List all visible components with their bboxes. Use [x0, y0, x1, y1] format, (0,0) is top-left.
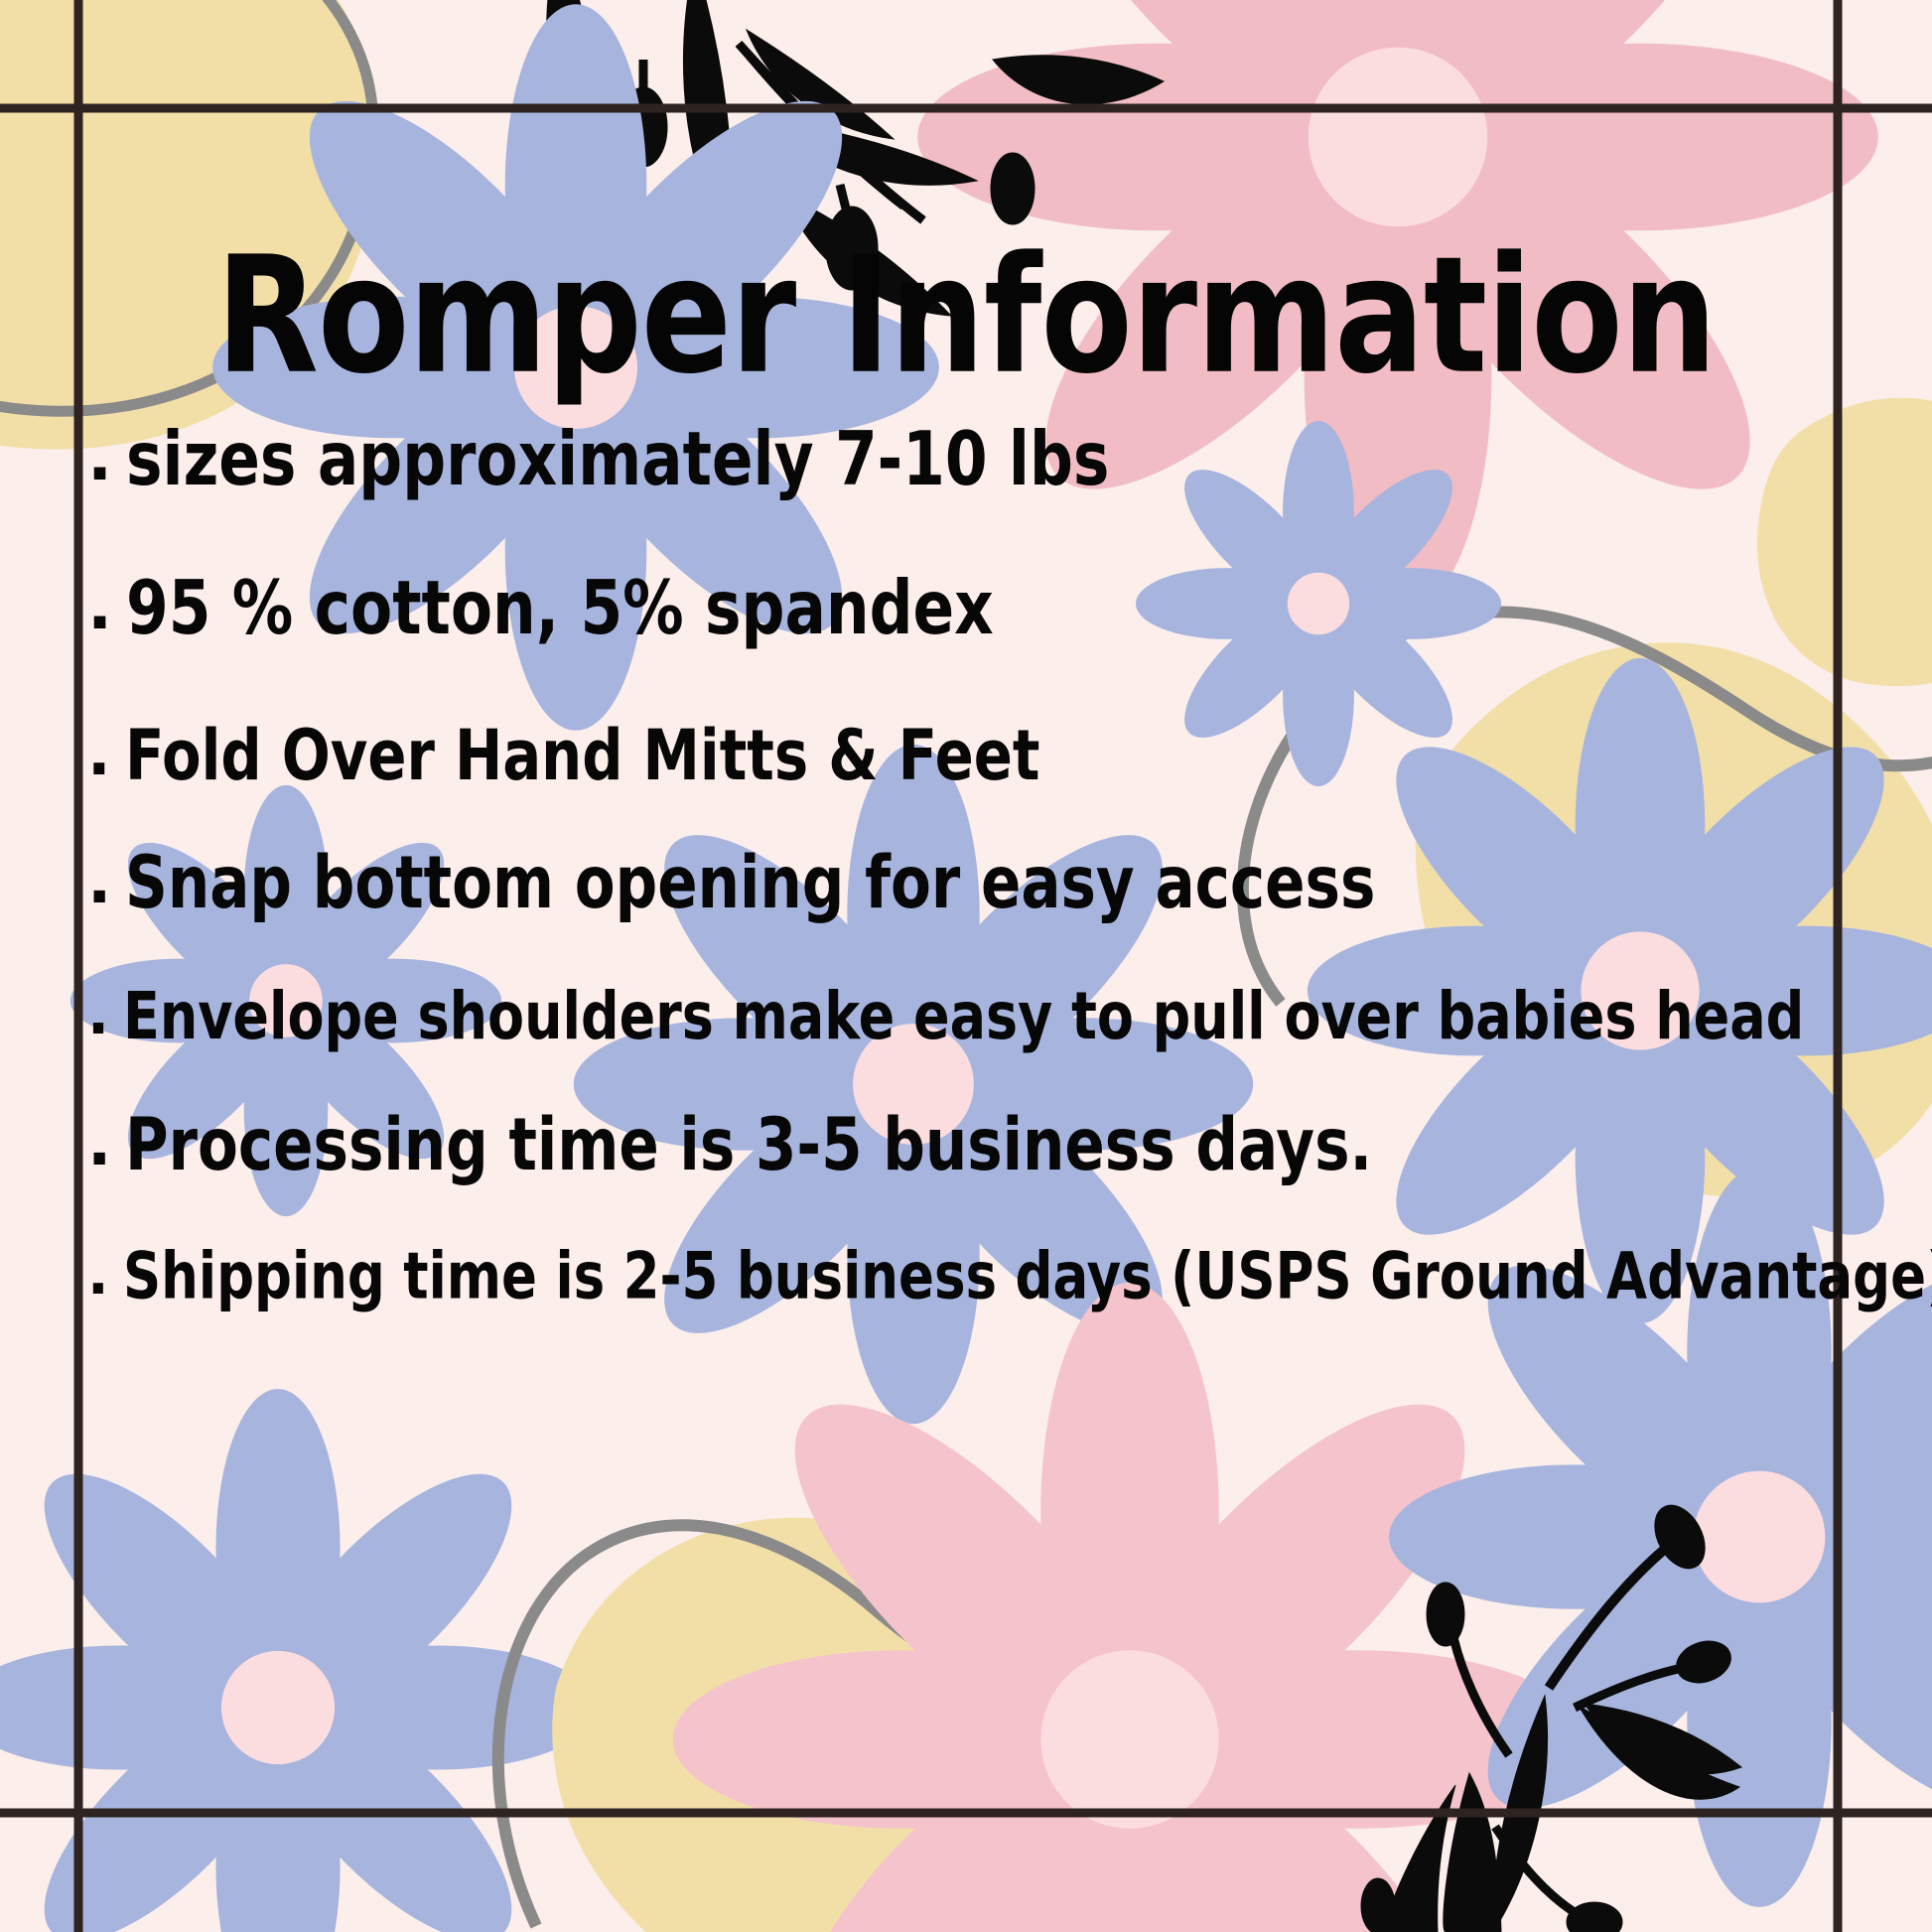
list-item-label: Shipping time is 2-5 business days (USPS… — [123, 1245, 1932, 1310]
romper-details-list: . sizes approximately 7-10 lbs . 95 % co… — [87, 427, 1904, 1306]
bullet-marker-icon: . — [87, 850, 111, 913]
romper-information-poster: Romper Information . sizes approximately… — [0, 0, 1932, 1932]
bullet-marker-icon: . — [87, 1112, 111, 1175]
bullet-marker-icon: . — [87, 574, 112, 639]
list-item: . Snap bottom opening for easy access — [87, 852, 1904, 915]
list-item: . Processing time is 3-5 business days. — [87, 1114, 1904, 1177]
bullet-marker-icon: . — [87, 1247, 109, 1304]
list-item-label: 95 % cotton, 5% spandex — [126, 571, 994, 645]
page-title: Romper Information — [39, 236, 1893, 397]
bullet-marker-icon: . — [87, 425, 112, 490]
list-item: . Envelope shoulders make easy to pull o… — [87, 987, 1904, 1044]
bullet-marker-icon: . — [87, 723, 111, 784]
list-item-label: Envelope shoulders make easy to pull ove… — [123, 983, 1804, 1048]
list-item-label: Processing time is 3-5 business days. — [125, 1110, 1372, 1182]
list-item: . Shipping time is 2-5 business days (US… — [87, 1249, 1904, 1306]
list-item-label: sizes approximately 7-10 lbs — [126, 422, 1109, 496]
bullet-marker-icon: . — [87, 985, 109, 1042]
list-item-label: Snap bottom opening for easy access — [125, 848, 1375, 920]
list-item: . Fold Over Hand Mitts & Feet — [87, 725, 1904, 786]
list-item-label: Fold Over Hand Mitts & Feet — [125, 721, 1039, 791]
list-item: . sizes approximately 7-10 lbs — [87, 427, 1904, 492]
list-item: . 95 % cotton, 5% spandex — [87, 576, 1904, 641]
